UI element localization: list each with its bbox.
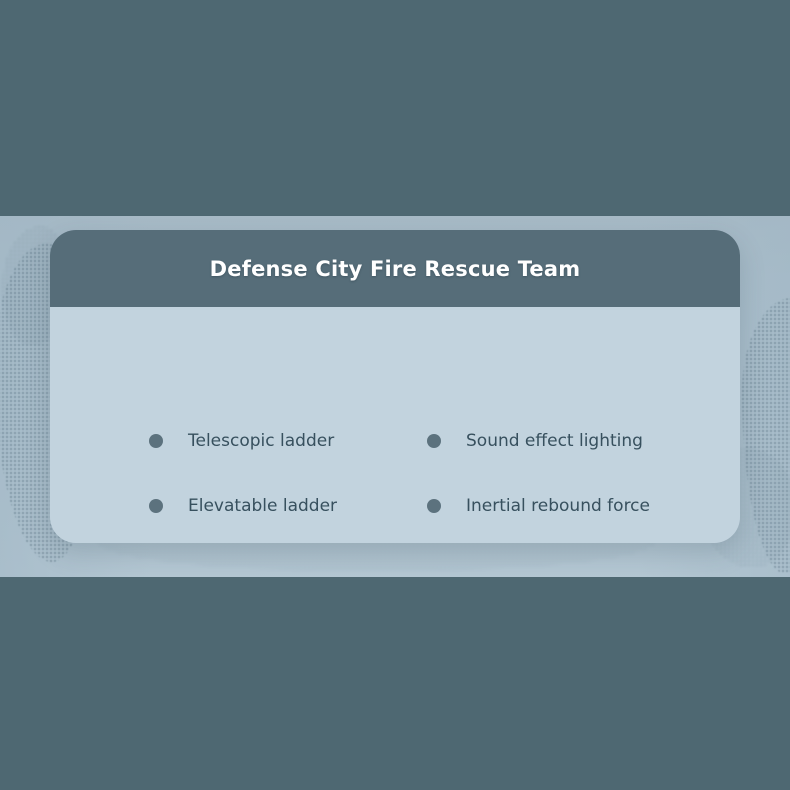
list-item-label: Elevatable ladder (188, 496, 337, 516)
background-band-bottom (0, 577, 790, 790)
card-body: Telescopic ladder Elevatable ladder Rota… (50, 307, 740, 543)
list-item[interactable]: Telescopic ladder (149, 431, 334, 451)
card-header: Defense City Fire Rescue Team (50, 230, 740, 307)
bullet-dot-icon (149, 499, 163, 513)
bullet-dot-icon (427, 499, 441, 513)
list-item[interactable]: Sound effect lighting (427, 431, 643, 451)
list-item[interactable]: Elevatable ladder (149, 496, 337, 516)
list-item-label: Telescopic ladder (188, 431, 334, 451)
screenshot-root: Defense City Fire Rescue Team Telescopic… (0, 0, 790, 790)
bullet-dot-icon (427, 434, 441, 448)
background-band-top (0, 0, 790, 216)
list-item-label: Sound effect lighting (466, 431, 643, 451)
list-item[interactable]: Inertial rebound force (427, 496, 650, 516)
list-item-label: Inertial rebound force (466, 496, 650, 516)
card-title: Defense City Fire Rescue Team (210, 257, 581, 281)
bullet-dot-icon (149, 434, 163, 448)
feature-card: Defense City Fire Rescue Team Telescopic… (50, 230, 740, 543)
feature-list-grid: Telescopic ladder Elevatable ladder Rota… (50, 307, 740, 543)
